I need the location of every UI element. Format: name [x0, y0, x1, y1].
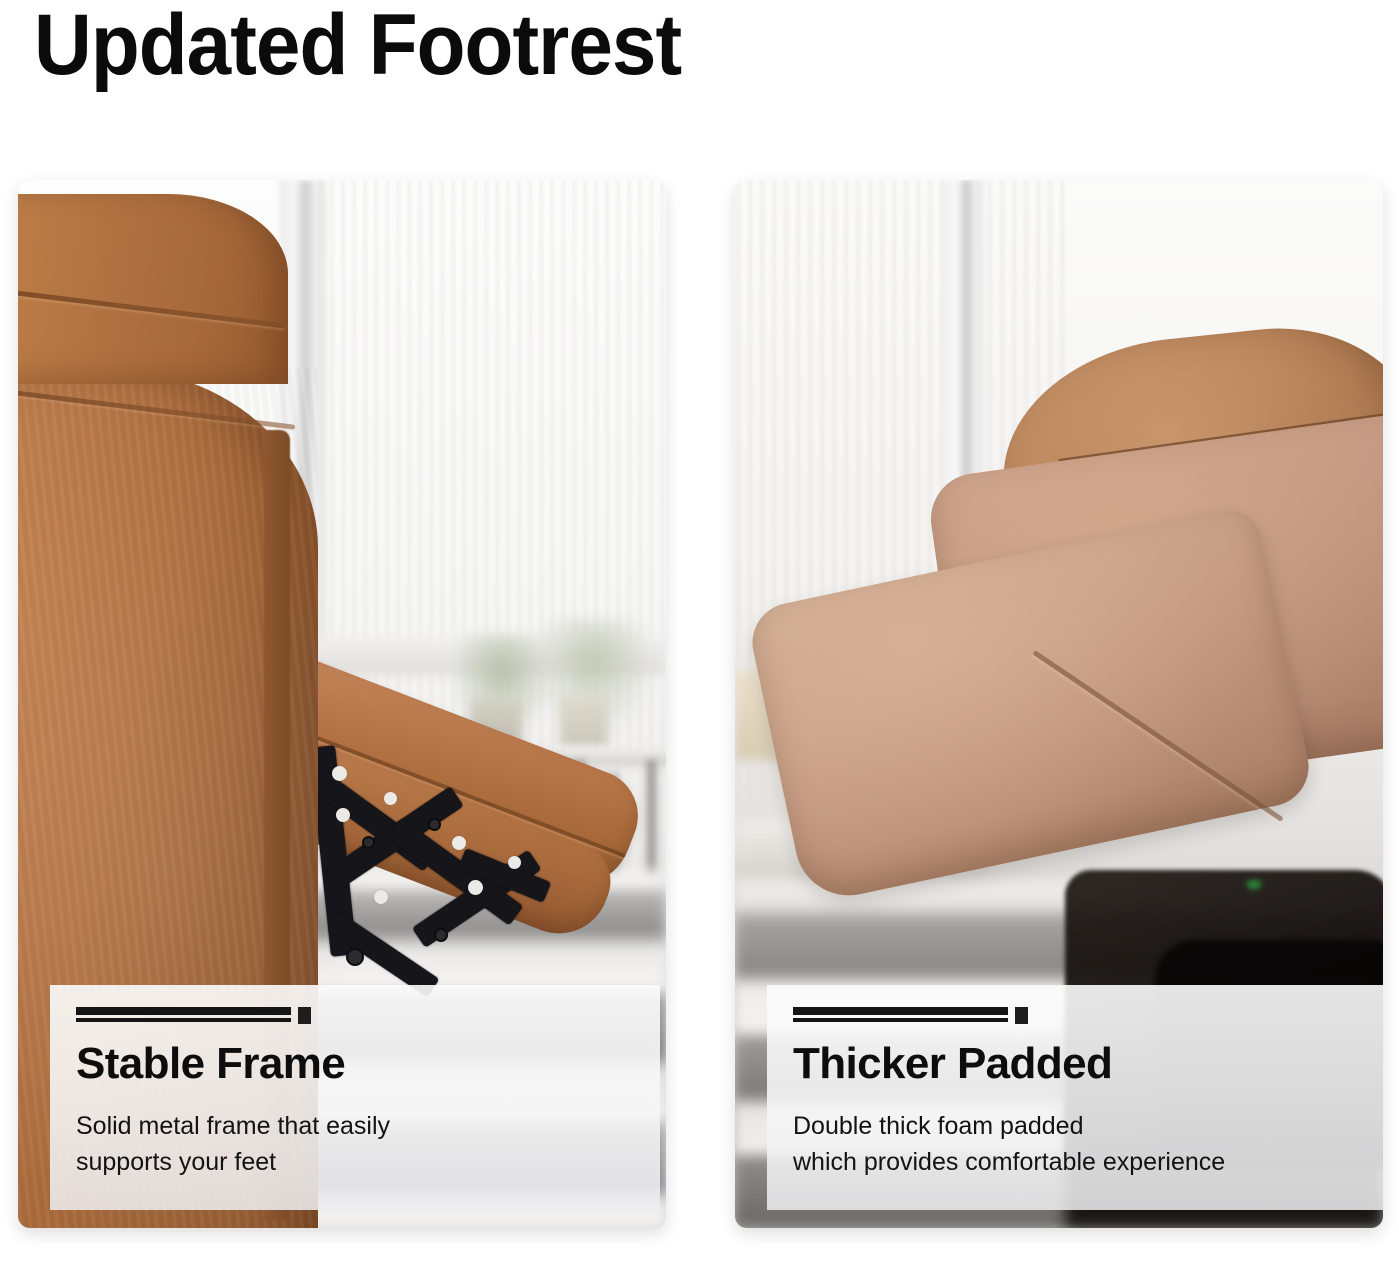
rule-bar-thin [793, 1018, 1008, 1022]
caption-body: Solid metal frame that easily supports y… [76, 1108, 634, 1181]
caption-heading: Thicker Padded [793, 1041, 1365, 1087]
feature-panels: Stable Frame Solid metal frame that easi… [0, 0, 1399, 1263]
rule-bar-thick [76, 1007, 291, 1015]
caption-body: Double thick foam padded which provides … [793, 1108, 1365, 1181]
rule-bar-thick [793, 1007, 1008, 1015]
caption-thicker-padded: Thicker Padded Double thick foam padded … [767, 985, 1383, 1210]
recliner-headrest [18, 194, 288, 384]
rule-bar-thin [76, 1018, 291, 1022]
rule-bar-square [298, 1007, 311, 1024]
caption-heading: Stable Frame [76, 1041, 634, 1087]
blurred-planter-right [560, 696, 608, 746]
rule-bar-decoration [793, 1007, 1037, 1025]
metal-scissor-mechanism [316, 752, 546, 1002]
rule-bar-square [1015, 1007, 1028, 1024]
rule-bar-decoration [76, 1007, 320, 1025]
mechanism-green-highlight [1247, 880, 1261, 889]
feature-panel-stable-frame: Stable Frame Solid metal frame that easi… [18, 180, 666, 1228]
feature-panel-thicker-padded: Thicker Padded Double thick foam padded … [735, 180, 1383, 1228]
caption-stable-frame: Stable Frame Solid metal frame that easi… [50, 985, 660, 1210]
